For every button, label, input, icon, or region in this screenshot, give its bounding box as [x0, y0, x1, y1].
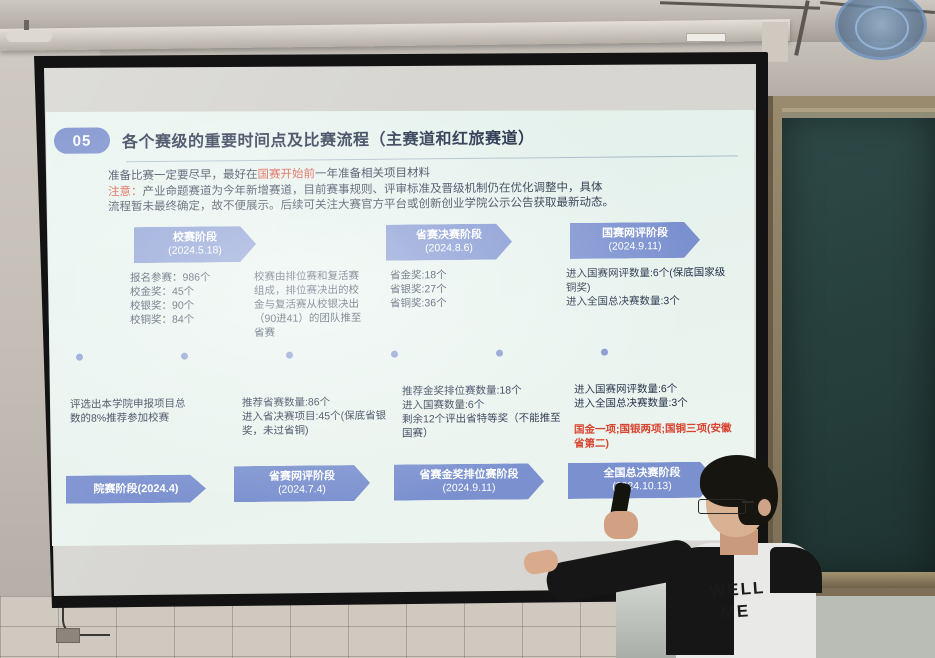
intro-warning-label: 注意：: [108, 186, 143, 198]
stage-date: (2024.9.11): [609, 240, 662, 254]
detail-line: 进入国赛数量:6个: [402, 397, 562, 413]
timeline-dot: [286, 352, 293, 359]
stage-details-shengsai-final: 省金奖:18个 省银奖:27个 省铜奖:36个: [390, 267, 520, 310]
presenter-shirt-text: WELL ME: [709, 577, 768, 625]
stage-label: 省赛决赛阶段: [416, 229, 482, 243]
timeline-dot: [601, 349, 608, 356]
intro-highlight: 国赛开始前: [258, 168, 316, 181]
slide-number-badge: 05: [54, 127, 110, 154]
slide-title: 各个赛级的重要时间点及比赛流程（主赛道和红旅赛道）: [122, 124, 535, 152]
detail-line: 校银奖：90个: [130, 298, 250, 313]
intro-line1-b: 一年准备相关项目材料: [315, 167, 430, 180]
stage-chevron-shengsai-review[interactable]: 省赛网评阶段 (2024.7.4): [234, 465, 370, 502]
detail-line: 进入省决赛项目:45个(保底省银奖，未过省铜): [242, 409, 400, 439]
detail-line: 进入国赛网评数量:6个: [574, 381, 734, 397]
stage-details-guosai-review: 进入国赛网评数量:6个(保底国家级铜奖) 进入全国总决赛数量:3个: [566, 265, 726, 309]
detail-line: 推荐金奖排位赛数量:18个: [402, 383, 562, 399]
stage-chevron-xiaosai[interactable]: 校赛阶段 (2024.5.18): [134, 226, 256, 263]
detail-line: 推荐省赛数量:86个: [242, 395, 400, 411]
stage-label: 院赛阶段(2024.4): [94, 482, 179, 496]
stage-date: (2024.8.6): [425, 242, 473, 255]
detail-line: 进入全国总决赛数量:3个: [574, 395, 734, 411]
detail-line: 评选出本学院申报项目总数的8%推荐参加校赛: [70, 397, 186, 426]
detail-line: 进入全国总决赛数量:3个: [566, 293, 726, 309]
stage-chevron-guosai-review[interactable]: 国赛网评阶段 (2024.9.11): [570, 222, 700, 259]
stage-label: 省赛网评阶段: [269, 470, 335, 484]
stage-details-xiaosai: 报名参赛：986个 校金奖：45个 校银奖：90个 校铜奖：84个: [130, 270, 250, 327]
slide-intro-text: 准备比赛一定要尽早，最好在国赛开始前一年准备相关项目材料 注意：产业命题赛道为今…: [108, 163, 728, 215]
presenter-holding-hand: [604, 511, 638, 539]
title-underline: [126, 155, 738, 162]
stage-details-national-final: 进入国赛网评数量:6个 进入全国总决赛数量:3个: [574, 381, 734, 411]
stage-chevron-yuansai[interactable]: 院赛阶段(2024.4): [66, 474, 206, 503]
presenter: WELL ME: [620, 455, 850, 658]
detail-line: 校金奖：45个: [130, 284, 250, 299]
glasses-icon: [698, 499, 746, 514]
shirt-text-line-1: WELL: [709, 577, 767, 603]
shirt-text-line-2: ME: [720, 599, 768, 624]
casing-label-plate: [686, 33, 726, 42]
ceiling-lamp-icon: [6, 30, 52, 42]
stage-note-xiaosai: 校赛由排位赛和复活赛组成，排位赛决出的校金与复活赛从校银决出（90进41）的团队…: [254, 269, 366, 340]
stage-date: (2024.5.18): [168, 244, 222, 258]
stage-label: 省赛金奖排位赛阶段: [420, 468, 519, 482]
timeline-dot: [391, 351, 398, 358]
detail-line: 校铜奖：84个: [130, 312, 250, 327]
slide-title-row: 05 各个赛级的重要时间点及比赛流程（主赛道和红旅赛道）: [54, 119, 744, 156]
stage-chevron-shengsai-final[interactable]: 省赛决赛阶段 (2024.8.6): [386, 224, 512, 261]
detail-line: 剩余12个评出省特等奖（不能推至国赛）: [402, 411, 562, 441]
presenter-shoulder-right: [770, 547, 822, 593]
timeline-dot: [496, 350, 503, 357]
classroom-scene: 05 各个赛级的重要时间点及比赛流程（主赛道和红旅赛道） 准备比赛一定要尽早，最…: [0, 0, 935, 658]
detail-line: 进入国赛网评数量:6个(保底国家级铜奖): [566, 265, 726, 295]
stage-date: (2024.7.4): [278, 483, 326, 496]
intro-line2-text: 产业命题赛道为今年新增赛道，目前赛事规则、评审标准及晋级机制仍在优化调整中，具体: [143, 181, 603, 197]
power-outlet: [56, 628, 80, 643]
detail-line: 省铜奖:36个: [390, 295, 520, 310]
stage-label: 国赛网评阶段: [602, 227, 668, 241]
detail-line: 省银奖:27个: [390, 281, 520, 296]
presenter-hair-side: [738, 463, 778, 525]
stage-date: (2024.9.11): [443, 482, 496, 496]
timeline-dot: [76, 354, 83, 361]
ceiling-fan-inner: [855, 6, 909, 50]
detail-line: 报名参赛：986个: [130, 270, 250, 285]
stage-chevron-shengsai-gold[interactable]: 省赛金奖排位赛阶段 (2024.9.11): [394, 463, 544, 500]
stage-details-yuansai: 评选出本学院申报项目总数的8%推荐参加校赛: [70, 397, 186, 426]
timeline-dot: [181, 353, 188, 360]
stage-details-national-final-awards: 国金一项;国银两项;国铜三项(安徽省第二): [574, 421, 732, 451]
stage-details-shengsai-review: 推荐省赛数量:86个 进入省决赛项目:45个(保底省银奖，未过省铜): [242, 395, 400, 439]
glasses-temple: [742, 501, 754, 503]
intro-line1-a: 准备比赛一定要尽早，最好在: [108, 169, 258, 182]
stage-details-shengsai-gold: 推荐金奖排位赛数量:18个 进入国赛数量:6个 剩余12个评出省特等奖（不能推至…: [402, 383, 562, 441]
presenter-ear: [758, 499, 771, 516]
stage-label: 校赛阶段: [173, 231, 217, 244]
detail-line: 省金奖:18个: [390, 267, 520, 282]
blackboard-top-trim: [782, 108, 935, 118]
